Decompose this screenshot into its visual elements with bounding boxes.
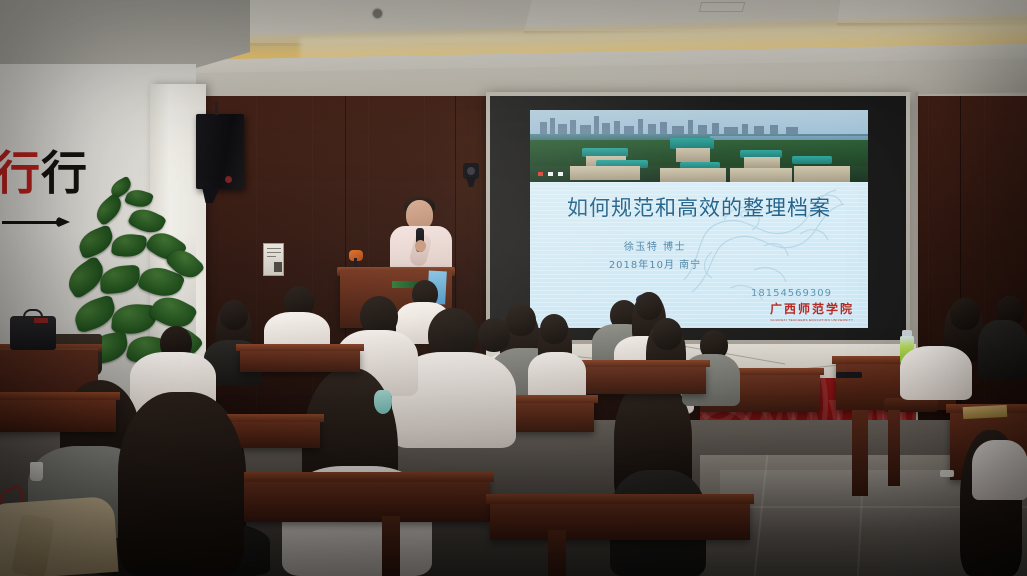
desk-top xyxy=(486,494,754,504)
projection-screen[interactable]: 如何规范和高效的整理档案 徐玉特 博士 2018年10月 南宁 18154569… xyxy=(486,92,910,344)
desk xyxy=(240,348,360,372)
desk xyxy=(0,396,116,432)
wall-notice-sign xyxy=(263,243,284,276)
chair-leg xyxy=(382,516,400,576)
slide-dots-decoration xyxy=(538,172,563,176)
desk-top xyxy=(216,472,494,482)
wall-art-char-2: 行 xyxy=(0,146,41,200)
paper-cup xyxy=(30,462,43,481)
slide-presenter-name: 徐玉特 博士 xyxy=(530,238,780,253)
phone-on-desk xyxy=(836,372,862,378)
chair-leg xyxy=(852,410,868,496)
presenter-hand xyxy=(415,240,426,252)
slide-date-location: 2018年10月 南宁 xyxy=(530,256,780,271)
slide-title: 如何规范和高效的整理档案 xyxy=(530,192,868,222)
ceiling-smoke-detector-icon xyxy=(373,9,382,18)
ceiling-vent xyxy=(699,2,745,12)
university-logo-cn: 广西师范学院 xyxy=(770,300,854,317)
university-logo: 广西师范学院 GUANGXI TEACHERS EDUCATION UNIVER… xyxy=(770,300,854,322)
desk xyxy=(490,500,750,540)
desk-top xyxy=(0,392,120,400)
screen-surface: 如何规范和高效的整理档案 徐玉特 博士 2018年10月 南宁 18154569… xyxy=(490,96,906,340)
slide-phone-number: 18154569309 xyxy=(751,288,832,299)
bag xyxy=(10,316,56,350)
wall-camera-icon xyxy=(463,163,479,179)
conference-room-photo: 行行 xyxy=(0,0,1027,576)
desk xyxy=(220,478,490,522)
desk-top xyxy=(236,344,364,351)
presentation-slide: 如何规范和高效的整理档案 徐玉特 博士 2018年10月 南宁 18154569… xyxy=(530,110,868,328)
book xyxy=(963,405,1008,419)
chair-leg xyxy=(888,410,900,486)
chair-leg xyxy=(548,530,566,576)
small-white-object xyxy=(940,470,954,477)
university-logo-en: GUANGXI TEACHERS EDUCATION UNIVERSITY xyxy=(770,318,854,322)
